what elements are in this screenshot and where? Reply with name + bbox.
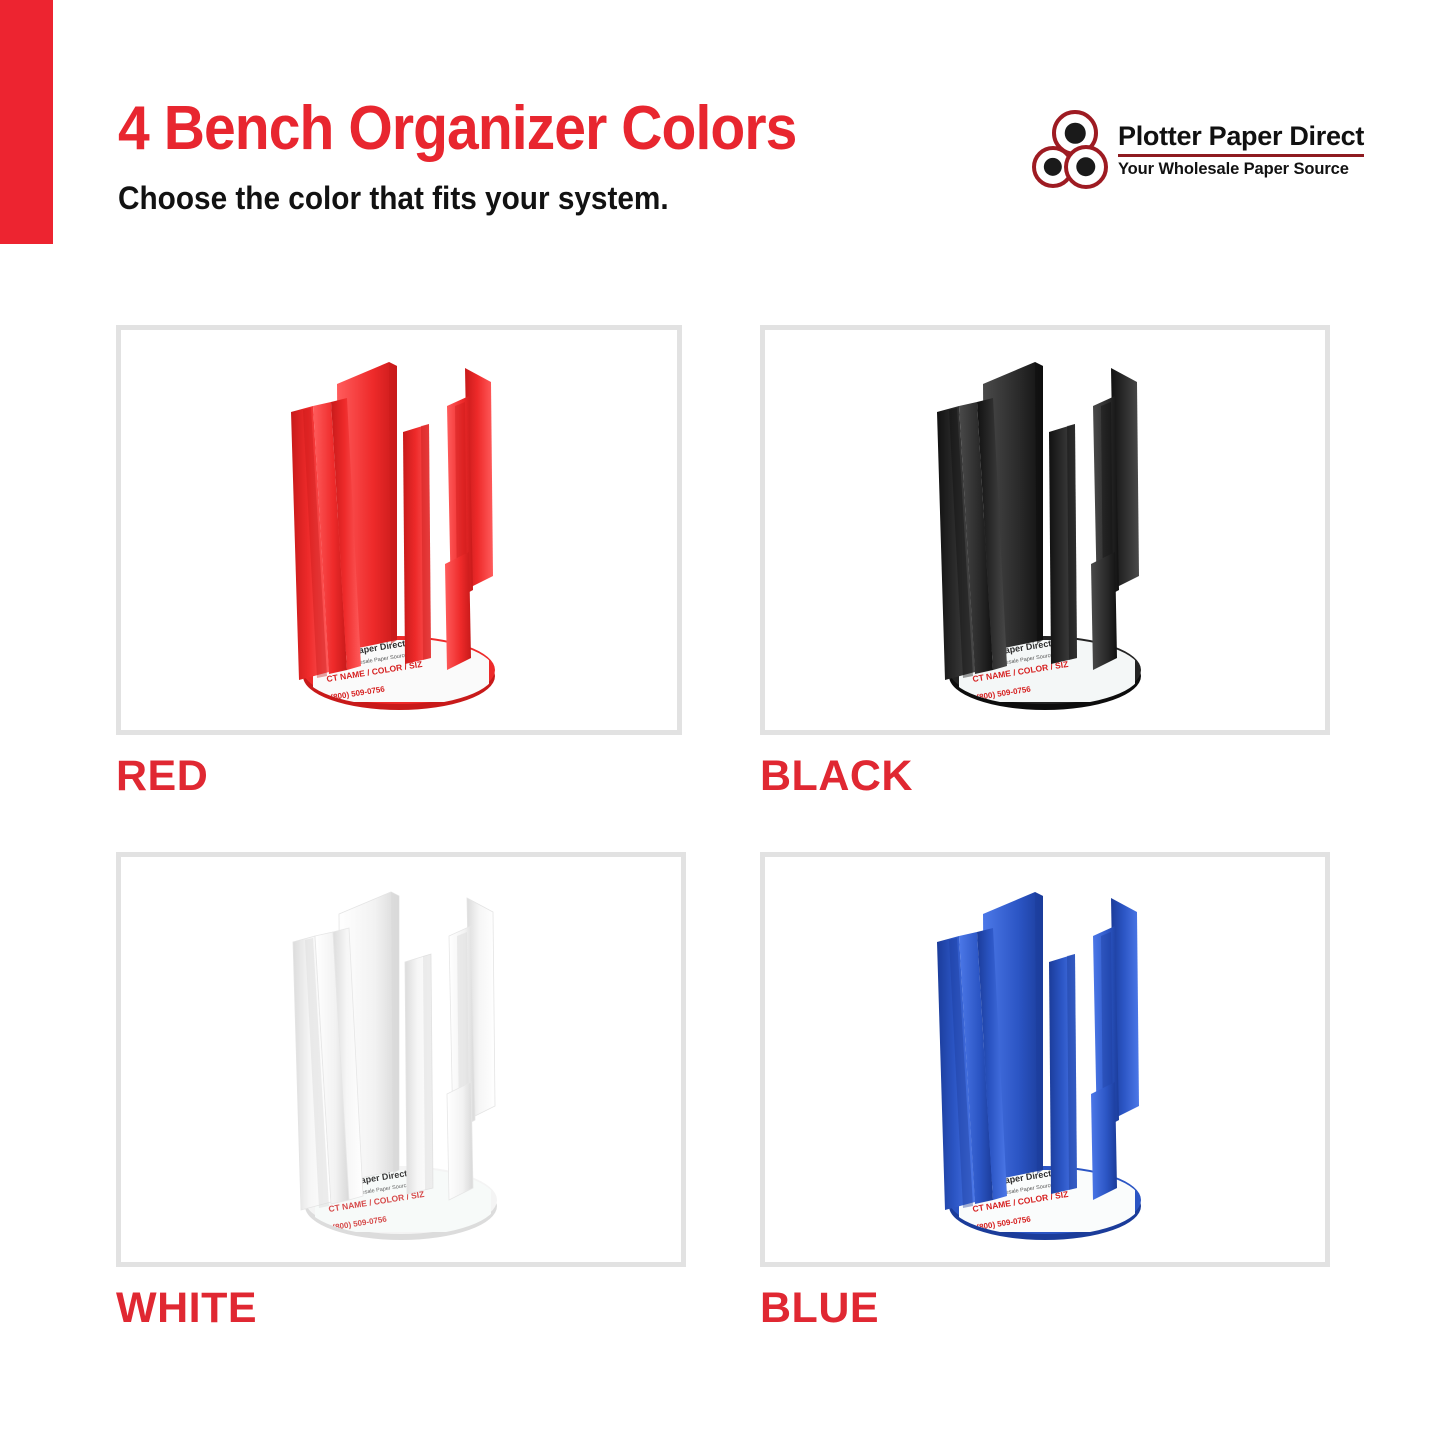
bench-organizer-image-blue: otter Paper Direct Your Wholesale Paper … — [915, 870, 1175, 1250]
product-image-frame: otter Paper Direct Your Wholesale Paper … — [116, 852, 686, 1267]
color-label-red: RED — [116, 753, 208, 799]
brand-name: Plotter Paper Direct — [1118, 122, 1364, 151]
left-accent-bar — [0, 0, 53, 244]
bench-organizer-image-white: otter Paper Direct Your Wholesale Paper … — [271, 870, 531, 1250]
color-label-blue: BLUE — [760, 1285, 879, 1331]
product-image-frame: otter Paper Direct Your Wholesale Paper … — [116, 325, 682, 735]
paper-rolls-icon — [1032, 110, 1112, 190]
bench-organizer-image-black: otter Paper Direct Your Wholesale Paper … — [915, 340, 1175, 720]
color-label-white: WHITE — [116, 1285, 257, 1331]
paper-roll-icon-bottom-right — [1064, 145, 1108, 189]
product-image-frame: otter Paper Direct Your Wholesale Paper … — [760, 325, 1330, 735]
brand-logo: Plotter Paper Direct Your Wholesale Pape… — [1032, 108, 1344, 192]
brand-logo-text: Plotter Paper Direct Your Wholesale Pape… — [1118, 122, 1364, 179]
bench-organizer-image-red: otter Paper Direct Your Wholesale Paper … — [269, 340, 529, 720]
brand-rule — [1118, 154, 1364, 157]
product-image-frame: otter Paper Direct Your Wholesale Paper … — [760, 852, 1330, 1267]
brand-tagline: Your Wholesale Paper Source — [1118, 160, 1364, 179]
color-label-black: BLACK — [760, 753, 913, 799]
